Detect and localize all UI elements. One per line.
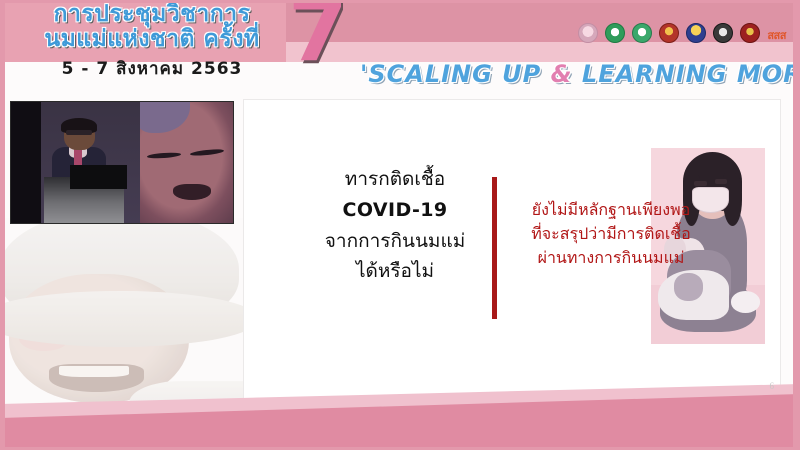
bottom-decorative-band: [0, 378, 800, 450]
logo-royal-emblem-icon: [659, 23, 679, 43]
question-line-3: จากการกินนมแม่: [306, 226, 484, 257]
page-number: 6: [770, 381, 775, 391]
mother-brow-left: [694, 181, 707, 185]
logo-thaihealth-text: สสส: [767, 29, 786, 42]
presentation-slide: การประชุมวิชาการ นมแม่แห่งชาติ ครั้งที่ …: [0, 0, 800, 450]
mother-foot: [731, 291, 761, 313]
conference-title-block: การประชุมวิชาการ นมแม่แห่งชาติ ครั้งที่ …: [12, 2, 292, 82]
logo-nursing-council-icon: [740, 23, 760, 43]
conference-title-line1: การประชุมวิชาการ: [12, 2, 292, 26]
mother-hand: [674, 273, 704, 300]
slide-frame-top: [0, 0, 800, 3]
question-line-4: ได้หรือไม่: [306, 256, 484, 287]
slide-frame-left: [0, 0, 5, 450]
tagline-ampersand: &: [551, 60, 573, 88]
video-baby-scene: [140, 102, 233, 223]
logo-pediatric-society-icon: [713, 23, 733, 43]
speaker-video-overlay[interactable]: [10, 101, 234, 224]
mother-brow-right: [715, 179, 728, 183]
conference-tagline: 'SCALING UP & LEARNING MORE': [360, 60, 800, 88]
answer-text-block: ยังไม่มีหลักฐานเพียงพอ ที่จะสรุปว่ามีการ…: [500, 198, 722, 270]
speaker-glasses-icon: [66, 130, 92, 135]
conference-edition-number: 7: [288, 0, 348, 74]
conference-title-line2: นมแม่แห่งชาติ ครั้งที่: [12, 27, 292, 51]
stage-dark-column: [11, 102, 41, 223]
vertical-divider: [492, 177, 497, 319]
answer-line-1: ยังไม่มีหลักฐานเพียงพอ: [500, 198, 722, 222]
question-line-2: COVID-19: [306, 195, 484, 226]
conference-date: 5 - 7 สิงหาคม 2563: [12, 55, 292, 82]
logo-ministry-public-health-icon: [605, 23, 625, 43]
question-line-1: ทารกติดเชื้อ: [306, 164, 484, 195]
sponsor-logo-strip: สสส: [578, 23, 786, 43]
tagline-part2: LEARNING MORE': [573, 60, 800, 88]
video-speaker-scene: [11, 102, 140, 223]
logo-department-health-icon: [632, 23, 652, 43]
video-baby-mouth: [173, 184, 210, 200]
logo-breastfeeding-foundation-icon: [578, 23, 598, 43]
slide-frame-right: [793, 0, 800, 450]
logo-royal-college-icon: [686, 23, 706, 43]
podium-laptop-screen: [70, 165, 127, 189]
tagline-part1: 'SCALING UP: [360, 60, 551, 88]
logo-thaihealth-wordmark: สสส: [767, 30, 786, 43]
answer-line-3: ผ่านทางการกินนมแม่: [500, 246, 722, 270]
question-text-block: ทารกติดเชื้อ COVID-19 จากการกินนมแม่ ได้…: [306, 164, 484, 287]
answer-line-2: ที่จะสรุปว่ามีการติดเชื้อ: [500, 222, 722, 246]
